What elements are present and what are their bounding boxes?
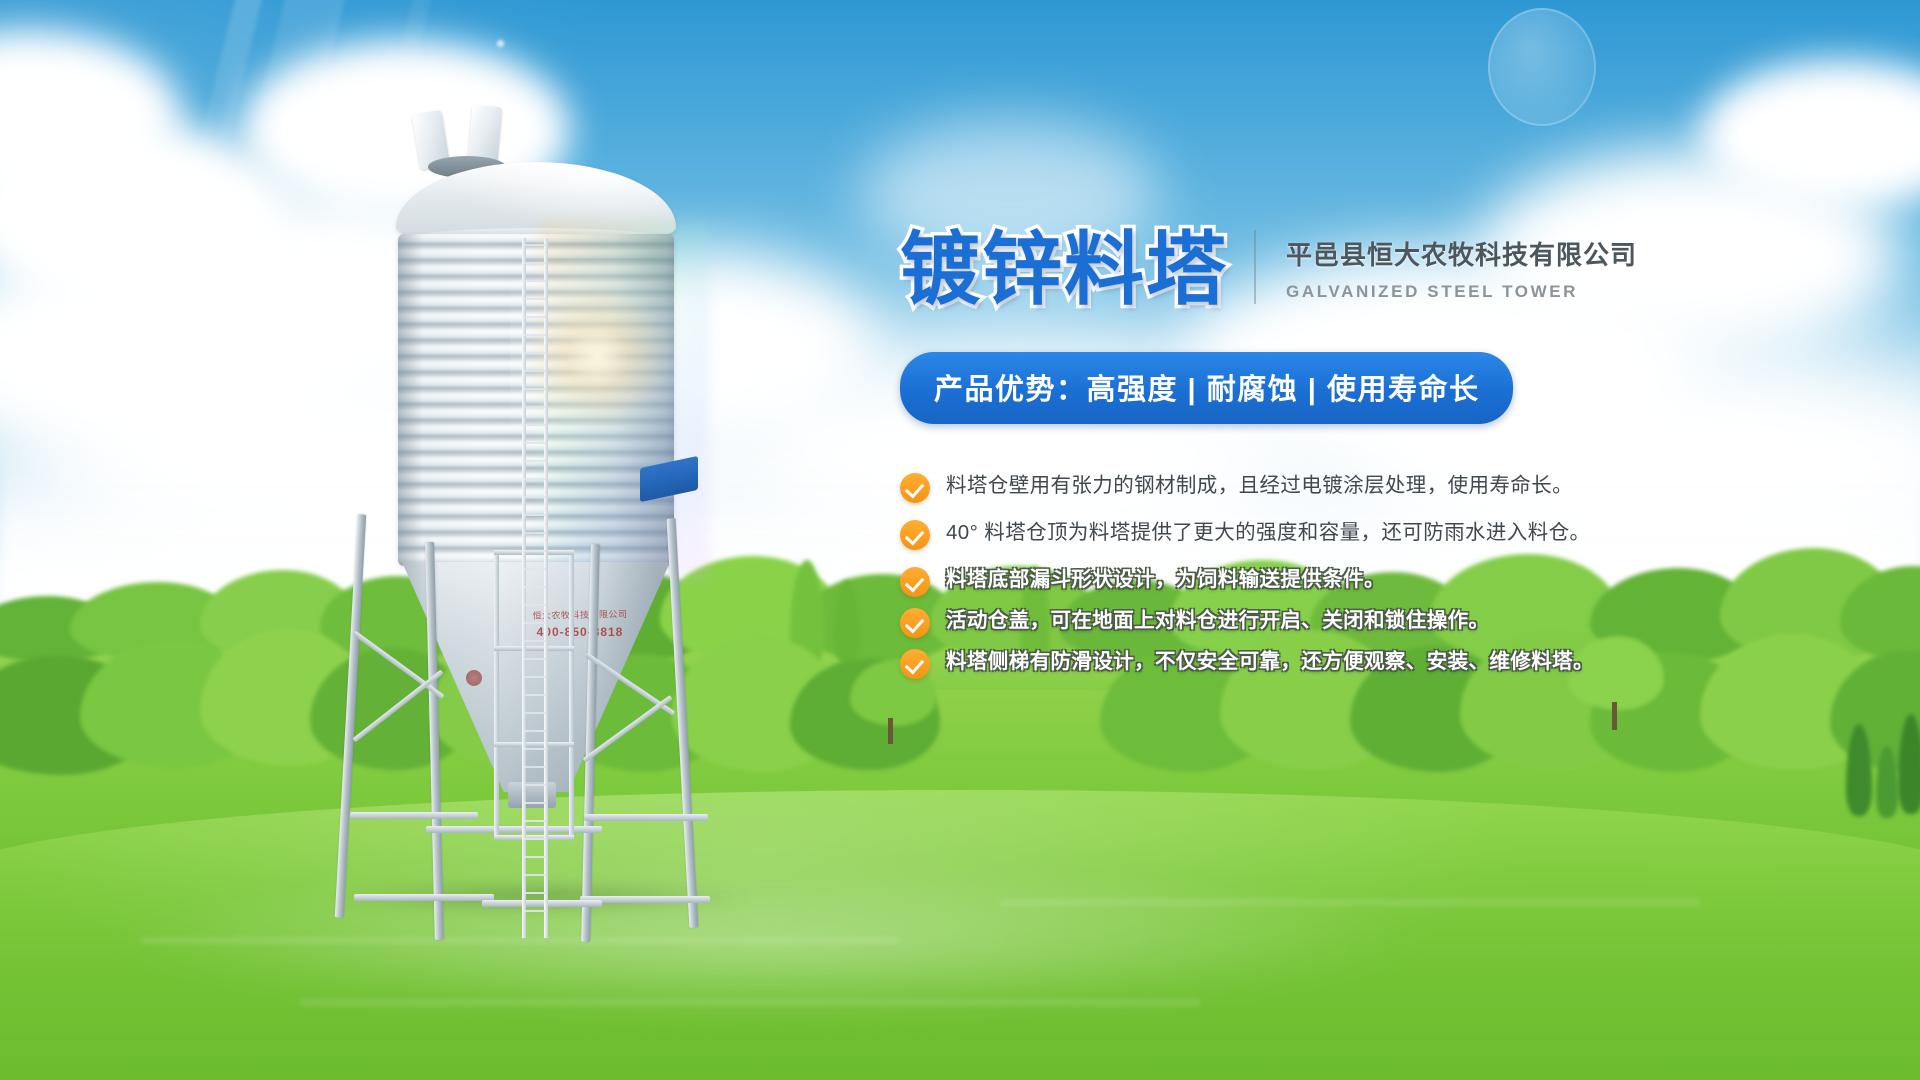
check-circle-icon [900, 649, 930, 679]
list-item: 料塔仓壁用有张力的钢材制成，且经过电镀涂层处理，使用寿命长。 [900, 472, 1860, 503]
lens-flare-dot-icon [497, 40, 504, 47]
feature-text: 料塔仓壁用有张力的钢材制成，且经过电镀涂层处理，使用寿命长。 [946, 472, 1573, 500]
list-item: 料塔底部漏斗形状设计，为饲料输送提供条件。 [900, 566, 1860, 597]
company-block: 平邑县恒大农牧科技有限公司 GALVANIZED STEEL TOWER [1286, 235, 1637, 310]
silo-side-ladder [522, 238, 548, 938]
silo-valve [466, 670, 482, 686]
company-subtitle-en: GALVANIZED STEEL TOWER [1286, 282, 1637, 302]
hero-banner: 恒大农牧科技有限公司 400-850-8818 [0, 0, 1920, 1080]
mow-stripe [140, 938, 900, 943]
list-item: 料塔侧梯有防滑设计，不仅安全可靠，还方便观察、安装、维修料塔。 [900, 648, 1860, 679]
check-circle-icon [900, 473, 930, 503]
mow-stripe [300, 1000, 1200, 1005]
advantages-pill: 产品优势：高强度 | 耐腐蚀 | 使用寿命长 [900, 352, 1513, 424]
mow-stripe [1000, 900, 1700, 905]
company-name: 平邑县恒大农牧科技有限公司 [1286, 235, 1637, 272]
check-circle-icon [900, 567, 930, 597]
feature-text: 料塔侧梯有防滑设计，不仅安全可靠，还方便观察、安装、维修料塔。 [946, 648, 1594, 676]
feature-text: 活动仓盖，可在地面上对料仓进行开启、关闭和锁住操作。 [946, 607, 1489, 635]
page-title: 镀锌料塔 [900, 230, 1228, 310]
feature-text: 40° 料塔仓顶为料塔提供了更大的强度和容量，还可防雨水进入料仓。 [946, 519, 1590, 547]
title-row: 镀锌料塔 平邑县恒大农牧科技有限公司 GALVANIZED STEEL TOWE… [900, 230, 1860, 310]
silo-tie-bar [584, 814, 708, 821]
check-circle-icon [900, 608, 930, 638]
product-image-silo: 恒大农牧科技有限公司 400-850-8818 [390, 110, 710, 900]
lens-flare-icon [1488, 8, 1596, 126]
silo-tie-bar [350, 812, 478, 819]
silo-leg [667, 518, 699, 928]
silo-lid-handle [468, 105, 503, 163]
title-divider [1254, 230, 1256, 304]
check-circle-icon [900, 520, 930, 550]
list-item: 40° 料塔仓顶为料塔提供了更大的强度和容量，还可防雨水进入料仓。 [900, 519, 1860, 550]
list-item: 活动仓盖，可在地面上对料仓进行开启、关闭和锁住操作。 [900, 607, 1860, 638]
silo-tie-bar [354, 894, 494, 901]
feature-text: 料塔底部漏斗形状设计，为饲料输送提供条件。 [946, 566, 1385, 594]
feature-list: 料塔仓壁用有张力的钢材制成，且经过电镀涂层处理，使用寿命长。 40° 料塔仓顶为… [900, 472, 1860, 679]
hero-text-panel: 镀锌料塔 平邑县恒大农牧科技有限公司 GALVANIZED STEEL TOWE… [900, 230, 1860, 695]
